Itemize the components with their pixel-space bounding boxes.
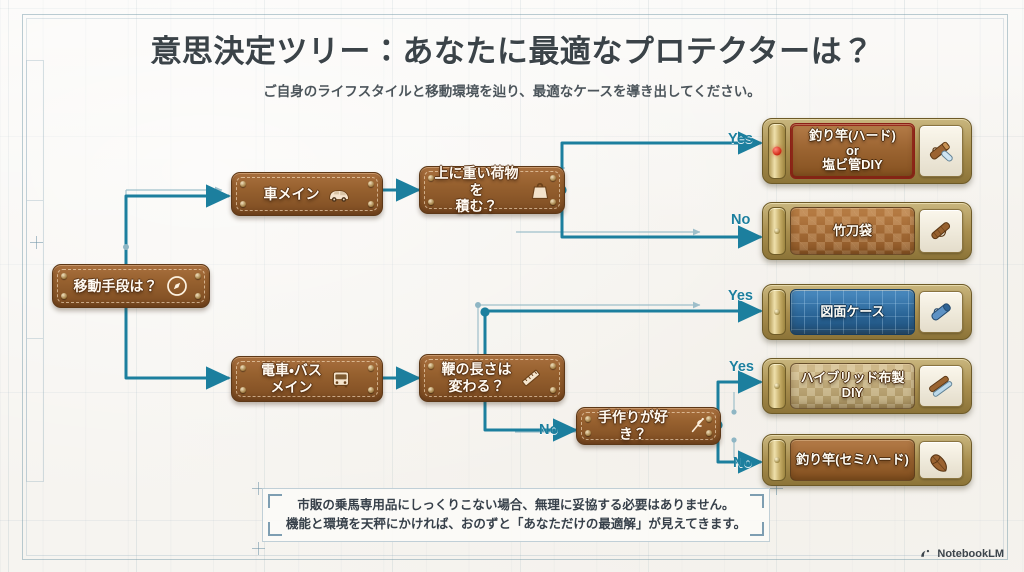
- rivet: [195, 273, 201, 279]
- rivet: [61, 293, 67, 299]
- shinai-bag-icon: [919, 209, 963, 253]
- rivet: [428, 387, 434, 393]
- edge-label-handmade-no: No: [733, 455, 752, 471]
- card-body: ハイブリッド布製 DIY: [790, 363, 915, 409]
- stud: [774, 383, 780, 389]
- edge-label-heavy-yes: Yes: [728, 131, 753, 147]
- card-body: 釣り竿(セミハード): [790, 439, 915, 481]
- card-end-cap: [768, 439, 786, 481]
- rivet: [240, 387, 246, 393]
- blueprint-tube-icon: [919, 291, 963, 333]
- rivet: [240, 201, 246, 207]
- tube-case-icon: [919, 125, 963, 177]
- edge-label-length-yes: Yes: [728, 288, 753, 304]
- page-title: 意思決定ツリー：あなたに最適なプロテクターは？: [0, 26, 1024, 71]
- result-card-shinai[interactable]: 竹刀袋: [762, 202, 972, 260]
- card-end-cap: [768, 363, 786, 409]
- car-icon: [327, 182, 351, 206]
- footnote-text: 市販の乗馬専用品にしっくりこない場合、無理に妥協する必要はありません。 機能と環…: [286, 496, 746, 534]
- rivet: [61, 273, 67, 279]
- bus-icon: [329, 367, 353, 391]
- decision-node-label: 移動手段は？: [74, 278, 158, 295]
- watermark-label: NotebookLM: [937, 548, 1004, 560]
- needle-icon: [684, 414, 708, 438]
- footnote-box: 市販の乗馬専用品にしっくりこない場合、無理に妥協する必要はありません。 機能と環…: [262, 488, 770, 542]
- card-end-cap: [768, 289, 786, 335]
- corner-bracket: [268, 522, 282, 536]
- compass-icon: [165, 274, 189, 298]
- decision-node-label: 上に重い荷物を 積む？: [432, 165, 521, 215]
- watermark: NotebookLM: [919, 547, 1004, 560]
- status-stud: [773, 147, 782, 156]
- rivet: [550, 387, 556, 393]
- rivet: [550, 363, 556, 369]
- result-card-label: 図面ケース: [816, 305, 888, 320]
- crosshair-tick: [30, 236, 43, 249]
- decision-node-label: 鞭の長さは 変わる？: [442, 361, 512, 394]
- result-card-hard-rod[interactable]: 釣り竿(ハード) or 塩ビ管DIY: [762, 118, 972, 184]
- result-card-semi-hard-rod[interactable]: 釣り竿(セミハード): [762, 434, 972, 486]
- ruler-icon: [519, 366, 543, 390]
- stud: [774, 228, 780, 234]
- corner-bracket: [268, 494, 282, 508]
- rivet: [368, 201, 374, 207]
- decision-node-label: 手作りが好き？: [589, 409, 677, 442]
- rivet: [368, 387, 374, 393]
- card-end-cap: [768, 207, 786, 255]
- decision-node-car[interactable]: 車メイン: [231, 172, 383, 216]
- edge-label-heavy-no: No: [731, 212, 750, 228]
- decision-node-transit[interactable]: 電車・バス メイン: [231, 356, 383, 402]
- result-card-blueprint-case[interactable]: 図面ケース: [762, 284, 972, 340]
- card-body: 図面ケース: [790, 289, 915, 335]
- stud: [774, 309, 780, 315]
- edge-label-handmade-yes: Yes: [729, 359, 754, 375]
- result-card-label: ハイブリッド布製 DIY: [797, 371, 909, 401]
- rivet: [240, 365, 246, 371]
- result-card-label: 竹刀袋: [829, 224, 876, 239]
- decision-node-root[interactable]: 移動手段は？: [52, 264, 210, 308]
- rivet: [240, 181, 246, 187]
- decision-node-label: 車メイン: [264, 186, 320, 203]
- notebooklm-logo-icon: [919, 547, 932, 560]
- edge-label-length-no: No: [539, 422, 558, 438]
- rivet: [368, 181, 374, 187]
- decision-node-heavy-load[interactable]: 上に重い荷物を 積む？: [419, 166, 565, 214]
- slide-canvas: 意思決定ツリー：あなたに最適なプロテクターは？ ご自身のライフスタイルと移動環境…: [0, 0, 1024, 572]
- card-end-cap: [768, 123, 786, 179]
- rivet: [368, 365, 374, 371]
- stud: [774, 457, 780, 463]
- decision-node-handmade[interactable]: 手作りが好き？: [576, 407, 721, 445]
- card-body: 釣り竿(ハード) or 塩ビ管DIY: [790, 123, 915, 179]
- decision-node-length[interactable]: 鞭の長さは 変わる？: [419, 354, 565, 402]
- hybrid-case-icon: [919, 365, 963, 407]
- rod-case-icon: [919, 441, 963, 479]
- result-card-label: 釣り竿(セミハード): [792, 453, 913, 468]
- page-subtitle: ご自身のライフスタイルと移動環境を辿り、最適なケースを導き出してください。: [0, 80, 1024, 100]
- corner-bracket: [750, 522, 764, 536]
- corner-bracket: [750, 494, 764, 508]
- card-body: 竹刀袋: [790, 207, 915, 255]
- blueprint-ruler-strip: [26, 60, 44, 482]
- weight-icon: [528, 178, 552, 202]
- result-card-hybrid-diy[interactable]: ハイブリッド布製 DIY: [762, 358, 972, 414]
- decision-node-label: 電車・バス メイン: [261, 362, 322, 395]
- result-card-label: 釣り竿(ハード) or 塩ビ管DIY: [805, 129, 900, 174]
- rivet: [428, 363, 434, 369]
- crosshair-tick: [252, 542, 265, 555]
- rivet: [195, 293, 201, 299]
